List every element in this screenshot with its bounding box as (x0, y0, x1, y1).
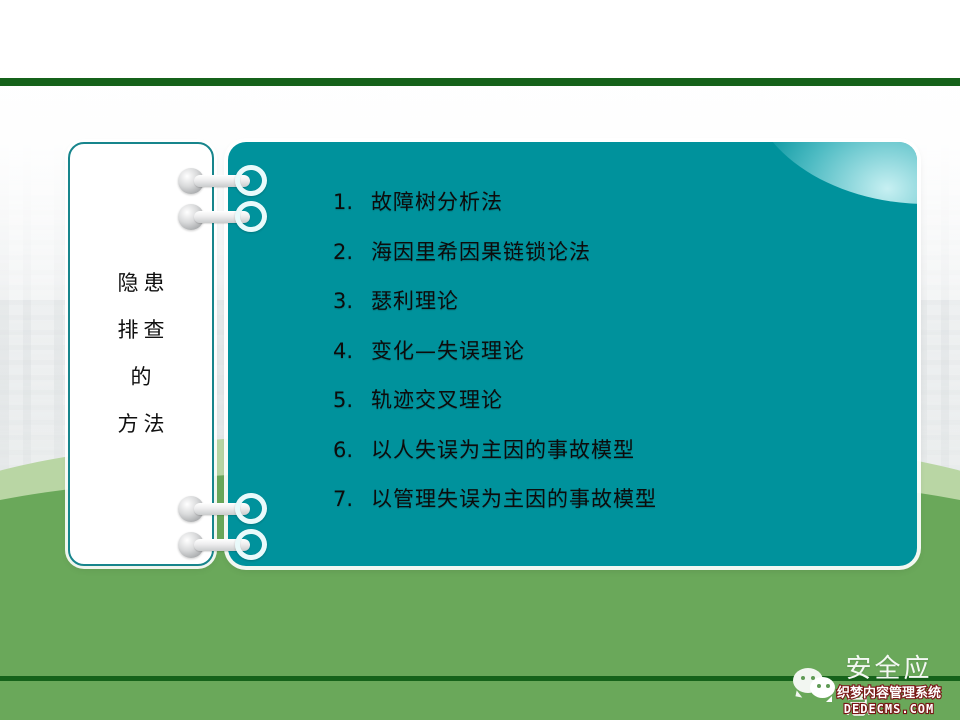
watermark-chinese-text: 织梦内容管理系统 (837, 682, 941, 701)
binder-loop-icon (235, 529, 267, 560)
list-item: 7. 以管理失误为主因的事故模型 (333, 483, 657, 533)
list-item: 5. 轨迹交叉理论 (333, 384, 657, 434)
wechat-eye (811, 676, 815, 680)
list-item: 3. 瑟利理论 (333, 285, 657, 335)
list-item-number: 7. (333, 487, 371, 511)
top-green-divider (0, 78, 960, 86)
list-item-label: 瑟利理论 (371, 285, 459, 315)
list-item-label: 故障树分析法 (371, 186, 503, 216)
methods-list: 1. 故障树分析法 2. 海因里希因果链锁论法 3. 瑟利理论 4. 变化—失误… (333, 186, 657, 533)
list-item-label: 以管理失误为主因的事故模型 (371, 483, 657, 513)
wechat-icon (793, 668, 836, 702)
binder-loop-icon (235, 201, 267, 232)
binder-loop-icon (235, 165, 267, 196)
panel-gloss-highlight (747, 142, 917, 204)
left-title-line-2: 排查 (113, 320, 170, 341)
list-item-label: 以人失误为主因的事故模型 (371, 434, 635, 464)
left-title-line-1: 隐患 (113, 273, 170, 294)
list-item-number: 6. (333, 438, 371, 462)
wechat-bubble-small (810, 677, 835, 698)
dedecms-watermark: 织梦内容管理系统 DEDECMS.COM (837, 682, 941, 716)
list-item-number: 2. (333, 240, 371, 264)
list-item-number: 5. (333, 388, 371, 412)
left-title-text: 隐患 排查 的 方法 (113, 273, 170, 435)
methods-content-panel: 1. 故障树分析法 2. 海因里希因果链锁论法 3. 瑟利理论 4. 变化—失误… (228, 142, 917, 566)
list-item-label: 变化—失误理论 (371, 335, 525, 365)
list-item-number: 3. (333, 289, 371, 313)
watermark-domain-text: DEDECMS.COM (844, 702, 934, 716)
list-item-number: 4. (333, 339, 371, 363)
wechat-eye (817, 684, 821, 688)
list-item: 2. 海因里希因果链锁论法 (333, 236, 657, 286)
wechat-eye (801, 676, 805, 680)
slide-canvas: 隐患 排查 的 方法 1. 故障树分析法 2. 海因里希因果链锁论法 3. 瑟利… (0, 0, 960, 720)
list-item: 4. 变化—失误理论 (333, 335, 657, 385)
list-item-label: 海因里希因果链锁论法 (371, 236, 591, 266)
binder-loop-icon (235, 493, 267, 524)
list-item: 6. 以人失误为主因的事故模型 (333, 434, 657, 484)
left-title-line-4: 方法 (113, 414, 170, 435)
list-item-number: 1. (333, 190, 371, 214)
list-item-label: 轨迹交叉理论 (371, 384, 503, 414)
list-item: 1. 故障树分析法 (333, 186, 657, 236)
wechat-eye (826, 684, 830, 688)
left-title-line-3: 的 (126, 367, 157, 388)
